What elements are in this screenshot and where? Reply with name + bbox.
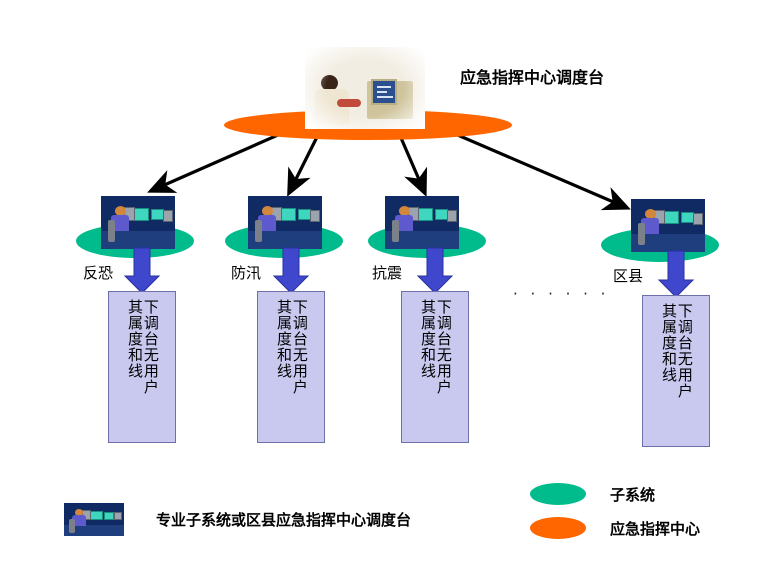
subordinate-box-col-left: 其属度和线 xyxy=(275,299,291,379)
page-title: 应急指挥中心调度台 xyxy=(460,64,604,88)
subordinate-box-col-left: 其属度和线 xyxy=(126,299,142,379)
legend-label-subsystem: 子系统 xyxy=(610,484,655,505)
subordinate-box-4: 下调台无用户 其属度和线 xyxy=(642,295,710,447)
node-label-1: 反恐 xyxy=(83,262,113,283)
diagram-canvas: 应急指挥中心调度台 反恐 防汛 抗震 xyxy=(0,0,776,582)
subordinate-box-col-right: 下调台无用户 xyxy=(435,299,451,395)
legend-ellipse-command-center xyxy=(530,517,586,539)
node-console-icon-1 xyxy=(101,196,175,249)
node-label-3: 抗震 xyxy=(372,262,402,283)
subordinate-box-col-right: 下调台无用户 xyxy=(291,299,307,395)
legend-label-command-center: 应急指挥中心 xyxy=(610,518,700,539)
node-label-2: 防汛 xyxy=(231,262,261,283)
legend-console-icon xyxy=(64,503,124,536)
legend-item-command-center: 应急指挥中心 xyxy=(530,517,700,539)
arrow-to-node-3 xyxy=(398,131,424,191)
subordinate-box-col-left: 其属度和线 xyxy=(660,303,676,383)
subordinate-box-col-left: 其属度和线 xyxy=(419,299,435,379)
subordinate-box-2: 下调台无用户 其属度和线 xyxy=(257,291,325,443)
legend-label-console: 专业子系统或区县应急指挥中心调度台 xyxy=(156,509,411,530)
legend-item-console: 专业子系统或区县应急指挥中心调度台 xyxy=(64,503,411,536)
node-label-4: 区县 xyxy=(613,265,643,286)
subordinate-box-col-right: 下调台无用户 xyxy=(142,299,158,395)
subordinate-box-1: 下调台无用户 其属度和线 xyxy=(108,291,176,443)
node-console-icon-4 xyxy=(631,199,705,252)
root-dispatcher-icon xyxy=(305,47,425,129)
node-console-icon-3 xyxy=(385,196,459,249)
node-console-icon-2 xyxy=(248,196,322,249)
legend-item-subsystem: 子系统 xyxy=(530,483,655,505)
ellipsis-indicator: · · · · · · xyxy=(513,285,609,303)
subordinate-box-col-right: 下调台无用户 xyxy=(676,303,692,399)
legend-ellipse-subsystem xyxy=(530,483,586,505)
subordinate-box-3: 下调台无用户 其属度和线 xyxy=(401,291,469,443)
arrow-to-node-2 xyxy=(290,131,320,191)
